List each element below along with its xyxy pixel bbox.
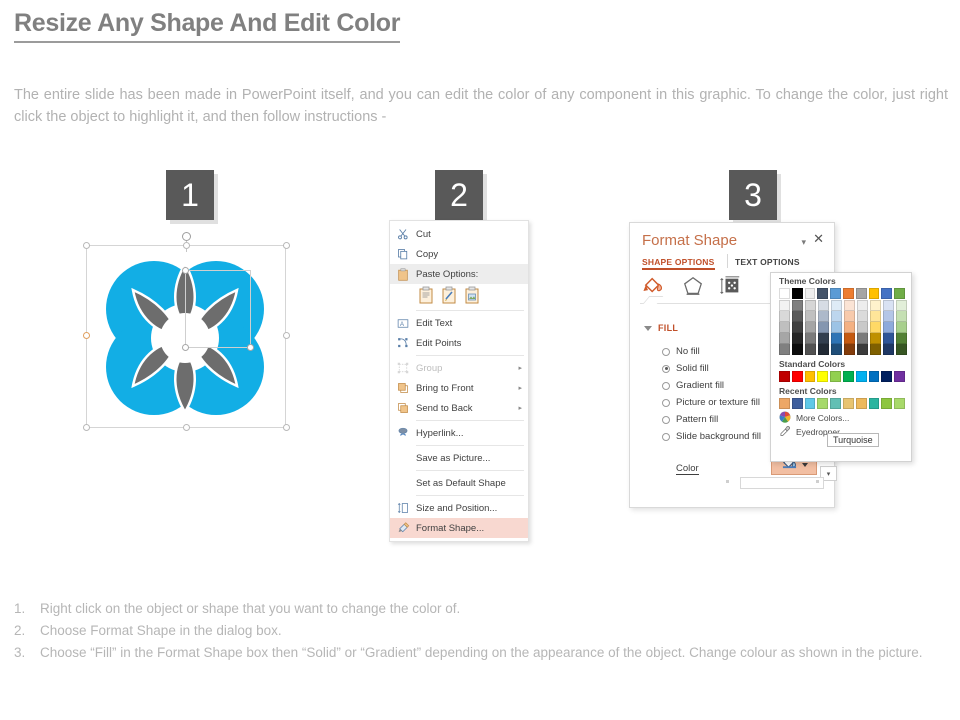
color-swatch[interactable] xyxy=(792,333,803,344)
color-swatch[interactable] xyxy=(870,333,881,344)
group-icon xyxy=(394,360,412,376)
color-swatch[interactable] xyxy=(896,311,907,322)
page-title: Resize Any Shape And Edit Color xyxy=(14,9,400,43)
paste-merge-format-icon[interactable] xyxy=(441,286,457,304)
color-swatch[interactable] xyxy=(869,398,880,409)
color-swatch[interactable] xyxy=(883,333,894,344)
color-swatch[interactable] xyxy=(805,371,816,382)
color-swatch[interactable] xyxy=(870,300,881,311)
color-swatch[interactable] xyxy=(857,322,868,333)
edit-points-icon xyxy=(394,335,412,351)
color-swatch[interactable] xyxy=(831,333,842,344)
color-picker-dropdown[interactable]: Theme Colors Standard Colors Recent Colo… xyxy=(770,272,912,462)
color-swatch[interactable] xyxy=(831,300,842,311)
radio-indicator xyxy=(662,416,670,424)
color-swatch[interactable] xyxy=(883,344,894,355)
fill-section-label: FILL xyxy=(658,323,678,333)
menu-separator xyxy=(416,310,524,311)
color-swatch[interactable] xyxy=(792,300,803,311)
adjust-guide-vertical xyxy=(185,270,186,348)
svg-text:A: A xyxy=(400,321,404,327)
size-and-properties-icon[interactable] xyxy=(720,275,742,302)
color-swatch[interactable] xyxy=(792,371,803,382)
menu-item-group: Group ▸ xyxy=(390,358,528,378)
radio-indicator xyxy=(662,399,670,407)
color-swatch[interactable] xyxy=(856,288,867,299)
paste-icon xyxy=(394,266,412,282)
color-swatch[interactable] xyxy=(779,300,790,311)
color-swatch[interactable] xyxy=(830,288,841,299)
color-swatch-column[interactable] xyxy=(896,300,907,355)
list-item: 2. Choose Format Shape in the dialog box… xyxy=(14,620,944,642)
menu-item-label: Group xyxy=(416,363,518,374)
list-item-number: 1. xyxy=(14,598,40,620)
menu-item-copy[interactable]: Copy xyxy=(390,244,528,264)
menu-item-hyperlink[interactable]: Hyperlink... xyxy=(390,423,528,443)
color-swatch[interactable] xyxy=(818,333,829,344)
eyedropper-icon xyxy=(779,425,791,439)
color-swatch[interactable] xyxy=(779,311,790,322)
fill-option-group[interactable]: No fill Solid fill Gradient fill Picture… xyxy=(662,343,761,445)
color-swatch-column[interactable] xyxy=(844,300,855,355)
menu-item-label: Paste Options: xyxy=(416,269,522,280)
resize-handle-bottom-center[interactable] xyxy=(183,424,190,431)
list-item: 3. Choose “Fill” in the Format Shape box… xyxy=(14,642,944,664)
color-swatch-column[interactable] xyxy=(779,300,790,355)
menu-item-edit-points[interactable]: Edit Points xyxy=(390,333,528,353)
color-swatch[interactable] xyxy=(883,311,894,322)
recent-colors-row[interactable] xyxy=(771,396,911,409)
color-swatch-column[interactable] xyxy=(818,300,829,355)
color-swatch[interactable] xyxy=(805,333,816,344)
menu-item-size-and-position[interactable]: Size and Position... xyxy=(390,498,528,518)
adjust-handle-right[interactable] xyxy=(247,344,254,351)
transparency-slider-tick-right xyxy=(816,480,819,483)
color-swatch[interactable] xyxy=(831,311,842,322)
color-swatch[interactable] xyxy=(857,344,868,355)
color-swatch[interactable] xyxy=(844,333,855,344)
adjust-guide-horizontal-top xyxy=(185,270,251,271)
color-swatch[interactable] xyxy=(881,288,892,299)
color-swatch[interactable] xyxy=(818,344,829,355)
color-swatch[interactable] xyxy=(830,371,841,382)
color-swatch[interactable] xyxy=(844,344,855,355)
color-swatch[interactable] xyxy=(831,322,842,333)
resize-handle-bottom-right[interactable] xyxy=(283,424,290,431)
radio-label: Pattern fill xyxy=(676,414,718,425)
color-swatch[interactable] xyxy=(805,344,816,355)
transparency-slider-tick-left xyxy=(726,480,729,483)
copy-icon xyxy=(394,246,412,262)
color-swatch[interactable] xyxy=(831,344,842,355)
radio-label: Picture or texture fill xyxy=(676,397,760,408)
menu-item-label: Set as Default Shape xyxy=(416,478,522,489)
radio-slide-background-fill[interactable]: Slide background fill xyxy=(662,428,761,445)
menu-item-label: Edit Text xyxy=(416,318,522,329)
color-swatch[interactable] xyxy=(896,322,907,333)
color-swatch-column[interactable] xyxy=(805,300,816,355)
color-swatch[interactable] xyxy=(792,344,803,355)
chevron-down-icon: ▾ xyxy=(827,470,831,478)
color-swatch[interactable] xyxy=(843,398,854,409)
menu-item-edit-text[interactable]: A Edit Text xyxy=(390,313,528,333)
step-badge-3: 3 xyxy=(729,170,777,220)
color-swatch[interactable] xyxy=(869,371,880,382)
color-swatch[interactable] xyxy=(856,398,867,409)
radio-label: Solid fill xyxy=(676,363,709,374)
more-colors-action[interactable]: More Colors... xyxy=(771,409,911,424)
radio-indicator xyxy=(662,382,670,390)
color-swatch[interactable] xyxy=(805,300,816,311)
rotate-handle[interactable] xyxy=(182,232,191,241)
color-swatch[interactable] xyxy=(894,398,905,409)
no-icon xyxy=(394,450,412,466)
standard-colors-label: Standard Colors xyxy=(771,355,911,369)
list-item-number: 3. xyxy=(14,642,40,664)
color-swatch[interactable] xyxy=(779,371,790,382)
fill-section-header[interactable]: FILL xyxy=(644,323,678,333)
color-swatch-column[interactable] xyxy=(870,300,881,355)
radio-indicator xyxy=(662,433,670,441)
color-swatch[interactable] xyxy=(896,300,907,311)
page-subtitle: The entire slide has been made in PowerP… xyxy=(14,84,948,128)
context-menu[interactable]: Cut Copy Paste Options: A Edit Text xyxy=(389,220,529,542)
menu-item-label: Edit Points xyxy=(416,338,522,349)
color-swatch[interactable] xyxy=(881,398,892,409)
color-swatch[interactable] xyxy=(792,398,803,409)
color-swatch[interactable] xyxy=(844,311,855,322)
color-swatch[interactable] xyxy=(818,300,829,311)
color-swatch[interactable] xyxy=(896,333,907,344)
tab-text-options[interactable]: TEXT OPTIONS xyxy=(735,257,800,267)
menu-separator xyxy=(416,445,524,446)
color-swatch[interactable] xyxy=(883,322,894,333)
chevron-right-icon: ▸ xyxy=(518,364,522,372)
menu-item-send-to-back[interactable]: Send to Back ▸ xyxy=(390,398,528,418)
scissors-icon xyxy=(394,226,412,242)
menu-item-label: Cut xyxy=(416,229,522,240)
theme-colors-variants-grid[interactable] xyxy=(771,299,911,355)
menu-separator xyxy=(416,420,524,421)
color-swatch[interactable] xyxy=(881,371,892,382)
list-item: 1. Right click on the object or shape th… xyxy=(14,598,944,620)
color-swatch[interactable] xyxy=(805,398,816,409)
color-swatch[interactable] xyxy=(857,333,868,344)
menu-item-label: Copy xyxy=(416,249,522,260)
radio-label: Gradient fill xyxy=(676,380,724,391)
color-field-label: Color xyxy=(676,463,699,475)
chevron-right-icon: ▸ xyxy=(518,404,522,412)
color-swatch[interactable] xyxy=(830,398,841,409)
list-item-number: 2. xyxy=(14,620,40,642)
hyperlink-icon xyxy=(394,425,412,441)
color-swatch[interactable] xyxy=(805,311,816,322)
menu-item-label: Hyperlink... xyxy=(416,428,522,439)
color-swatch[interactable] xyxy=(844,322,855,333)
menu-item-bring-to-front[interactable]: Bring to Front ▸ xyxy=(390,378,528,398)
paste-keep-source-icon[interactable] xyxy=(418,286,434,304)
no-icon xyxy=(394,475,412,491)
size-position-icon xyxy=(394,500,412,516)
radio-label: No fill xyxy=(676,346,700,357)
color-swatch[interactable] xyxy=(857,300,868,311)
radio-picture-or-texture-fill[interactable]: Picture or texture fill xyxy=(662,394,761,411)
radio-indicator xyxy=(662,348,670,356)
radio-gradient-fill[interactable]: Gradient fill xyxy=(662,377,761,394)
transparency-input[interactable] xyxy=(740,477,824,489)
menu-item-label: Send to Back xyxy=(416,403,518,414)
resize-handle-bottom-left[interactable] xyxy=(83,424,90,431)
color-swatch[interactable] xyxy=(843,288,854,299)
menu-item-label: Format Shape... xyxy=(416,523,522,534)
chevron-down-icon[interactable] xyxy=(802,463,808,467)
color-swatch[interactable] xyxy=(805,322,816,333)
color-swatch[interactable] xyxy=(792,322,803,333)
color-swatch[interactable] xyxy=(779,322,790,333)
menu-item-save-as-picture[interactable]: Save as Picture... xyxy=(390,448,528,468)
menu-item-label: Save as Picture... xyxy=(416,453,522,464)
color-swatch[interactable] xyxy=(817,288,828,299)
color-wheel-icon xyxy=(779,411,791,425)
color-swatch[interactable] xyxy=(818,311,829,322)
theme-colors-base-row[interactable] xyxy=(771,286,911,299)
radio-no-fill[interactable]: No fill xyxy=(662,343,761,360)
color-swatch-column[interactable] xyxy=(857,300,868,355)
paste-picture-icon[interactable] xyxy=(464,286,480,304)
menu-separator xyxy=(416,495,524,496)
color-swatch[interactable] xyxy=(779,344,790,355)
color-swatch[interactable] xyxy=(817,371,828,382)
adjust-guide-vertical-right xyxy=(250,270,251,347)
adjust-guide-horizontal-bottom xyxy=(185,347,251,348)
collapse-triangle-icon xyxy=(644,326,652,331)
color-swatch[interactable] xyxy=(779,288,790,299)
color-swatch[interactable] xyxy=(870,344,881,355)
color-swatch[interactable] xyxy=(857,311,868,322)
color-swatch[interactable] xyxy=(844,300,855,311)
color-swatch[interactable] xyxy=(817,398,828,409)
edit-text-icon: A xyxy=(394,315,412,331)
format-shape-title: Format Shape xyxy=(642,232,737,249)
format-shape-icon xyxy=(394,520,412,536)
radio-solid-fill[interactable]: Solid fill xyxy=(662,360,761,377)
resize-handle-middle-left[interactable] xyxy=(83,332,90,339)
menu-item-set-as-default-shape[interactable]: Set as Default Shape xyxy=(390,473,528,493)
color-swatch[interactable] xyxy=(779,398,790,409)
color-swatch[interactable] xyxy=(870,311,881,322)
color-swatch[interactable] xyxy=(856,371,867,382)
menu-item-label: Bring to Front xyxy=(416,383,518,394)
menu-item-format-shape[interactable]: Format Shape... xyxy=(390,518,528,538)
color-swatch[interactable] xyxy=(870,322,881,333)
color-swatch[interactable] xyxy=(894,371,905,382)
close-icon[interactable]: ✕ xyxy=(813,232,824,245)
color-swatch[interactable] xyxy=(843,371,854,382)
list-item-text: Choose Format Shape in the dialog box. xyxy=(40,620,944,642)
more-colors-label: More Colors... xyxy=(796,413,849,423)
resize-handle-top-center[interactable] xyxy=(183,242,190,249)
adjust-handle-top[interactable] xyxy=(182,267,189,274)
color-tooltip: Turquoise xyxy=(827,433,879,447)
radio-label: Slide background fill xyxy=(676,431,761,442)
instruction-list: 1. Right click on the object or shape th… xyxy=(14,598,944,664)
color-swatch[interactable] xyxy=(779,333,790,344)
step-badge-1: 1 xyxy=(166,170,214,220)
bring-to-front-icon xyxy=(394,380,412,396)
radio-indicator xyxy=(662,365,670,373)
menu-separator xyxy=(416,355,524,356)
adjust-handle-center[interactable] xyxy=(182,344,189,351)
list-item-text: Choose “Fill” in the Format Shape box th… xyxy=(40,642,944,664)
tab-divider xyxy=(727,254,728,268)
send-to-back-icon xyxy=(394,400,412,416)
paste-options-row[interactable] xyxy=(390,284,528,308)
list-item-text: Right click on the object or shape that … xyxy=(40,598,944,620)
resize-handle-top-right[interactable] xyxy=(283,242,290,249)
theme-colors-label: Theme Colors xyxy=(771,273,911,286)
chevron-down-icon[interactable]: ▾ xyxy=(801,237,806,248)
resize-handle-top-left[interactable] xyxy=(83,242,90,249)
menu-item-paste-options: Paste Options: xyxy=(390,264,528,284)
menu-separator xyxy=(416,470,524,471)
color-swatch[interactable] xyxy=(792,311,803,322)
menu-item-label: Size and Position... xyxy=(416,503,522,514)
color-swatch[interactable] xyxy=(883,300,894,311)
menu-item-cut[interactable]: Cut xyxy=(390,224,528,244)
color-swatch-column[interactable] xyxy=(883,300,894,355)
standard-colors-row[interactable] xyxy=(771,369,911,382)
color-swatch-column[interactable] xyxy=(792,300,803,355)
radio-pattern-fill[interactable]: Pattern fill xyxy=(662,411,761,428)
color-swatch[interactable] xyxy=(818,322,829,333)
recent-colors-label: Recent Colors xyxy=(771,382,911,396)
step-badge-2: 2 xyxy=(435,170,483,220)
shape-selection-panel xyxy=(82,232,290,432)
color-swatch[interactable] xyxy=(894,288,905,299)
color-swatch[interactable] xyxy=(805,288,816,299)
color-swatch[interactable] xyxy=(792,288,803,299)
color-swatch-column[interactable] xyxy=(831,300,842,355)
color-swatch[interactable] xyxy=(869,288,880,299)
resize-handle-middle-right[interactable] xyxy=(283,332,290,339)
effects-icon[interactable] xyxy=(682,275,704,302)
tab-shape-options[interactable]: SHAPE OPTIONS xyxy=(642,257,715,267)
color-swatch[interactable] xyxy=(896,344,907,355)
chevron-right-icon: ▸ xyxy=(518,384,522,392)
